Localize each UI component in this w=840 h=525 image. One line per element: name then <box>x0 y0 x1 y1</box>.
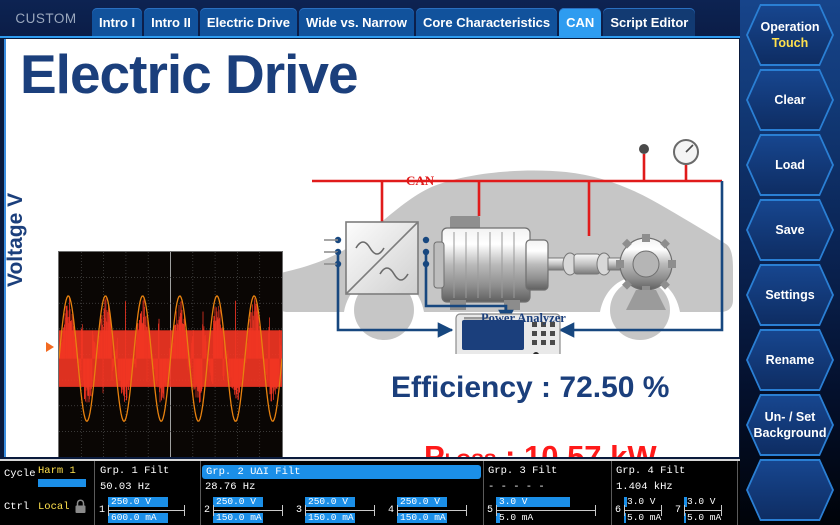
group-frequency: 1.404 kHz <box>616 481 673 493</box>
meter-tick <box>661 505 662 516</box>
scope-y-axis-label: Voltage V <box>4 193 28 287</box>
ctrl-label: Ctrl <box>4 501 29 513</box>
sidebar-button-face: Load <box>748 136 832 194</box>
sidebar-button-label: Save <box>775 222 804 238</box>
tab-list: Intro IIntro IIElectric DriveWide vs. Na… <box>92 8 697 37</box>
sidebar-button-operation[interactable]: OperationTouch <box>746 4 834 66</box>
sensor-icon <box>639 144 649 154</box>
meter-axis <box>684 510 722 511</box>
channel-number: 4 <box>388 505 394 516</box>
current-value: 5.0 mA <box>627 512 661 523</box>
channel-meter[interactable]: 250.0 V150.0 mA <box>213 497 283 525</box>
meter-tick <box>213 505 214 516</box>
channel-number: 1 <box>99 505 105 516</box>
current-value: 600.0 mA <box>111 512 157 523</box>
custom-label: CUSTOM <box>0 11 92 37</box>
power-loss-readout: PLOSS : 10.57 kW <box>424 439 657 457</box>
group-frequency: 28.76 Hz <box>205 481 255 493</box>
sidebar-button-save[interactable]: Save <box>746 199 834 261</box>
channel-meter[interactable]: 3.0 V5.0 mA <box>684 497 722 525</box>
power-analyzer-label: Power Analyzer <box>481 311 566 326</box>
cycle-bar <box>38 479 86 487</box>
current-value: 150.0 mA <box>308 512 354 523</box>
channel-group-1[interactable]: Grp. 1 Filt50.03 Hz1250.0 V600.0 mA <box>95 461 201 525</box>
sidebar-button-face: Un- / Set Background <box>748 396 832 454</box>
voltage-value: 250.0 V <box>308 496 348 507</box>
page-title: Electric Drive <box>20 47 358 102</box>
channel-number: 6 <box>615 505 621 516</box>
channel-number: 2 <box>204 505 210 516</box>
tab-bar-underline <box>0 36 740 38</box>
channel-group-3[interactable]: Grp. 3 Filt- - - - -53.0 V5.0 mA <box>483 461 612 525</box>
meter-axis <box>624 510 662 511</box>
sidebar-button-face: Save <box>748 201 832 259</box>
meter-axis <box>397 510 467 511</box>
current-value: 150.0 mA <box>216 512 262 523</box>
sidebar-button-face: Rename <box>748 331 832 389</box>
sidebar-button-label: Settings <box>765 287 814 303</box>
meter-tick <box>496 505 497 516</box>
efficiency-readout: Efficiency : 72.50 % <box>391 371 669 405</box>
channel-meter[interactable]: 3.0 V5.0 mA <box>624 497 662 525</box>
meter-tick <box>305 505 306 516</box>
group-header: Grp. 4 Filt <box>616 465 685 477</box>
channel-number: 3 <box>296 505 302 516</box>
voltage-value: 3.0 V <box>687 496 716 507</box>
sidebar-button-face: OperationTouch <box>748 6 832 64</box>
sidebar-button-face <box>748 461 832 519</box>
sidebar-button-label: Clear <box>774 92 805 108</box>
meter-axis <box>108 510 185 511</box>
cycle-label: Cycle <box>4 468 36 480</box>
group-header: Grp. 2 UΔI Filt <box>202 465 481 479</box>
meter-tick <box>374 505 375 516</box>
meter-tick <box>282 505 283 516</box>
channel-group-2[interactable]: Grp. 2 UΔI Filt28.76 Hz2250.0 V150.0 mA3… <box>200 461 484 525</box>
channel-meter[interactable]: 250.0 V150.0 mA <box>397 497 467 525</box>
shaft-coupling-icon <box>548 253 622 275</box>
sidebar-button-label: Un- / Set Background <box>754 409 827 442</box>
load-machine-icon <box>616 234 676 310</box>
tab-can[interactable]: CAN <box>559 8 601 37</box>
voltage-value: 3.0 V <box>627 496 656 507</box>
current-value: 5.0 mA <box>499 512 533 523</box>
voltage-value: 250.0 V <box>216 496 256 507</box>
function-sidebar: OperationTouchClearLoadSaveSettingsRenam… <box>740 0 840 525</box>
voltage-value: 250.0 V <box>111 496 151 507</box>
voltage-value: 3.0 V <box>499 496 528 507</box>
sidebar-button-un-set-background[interactable]: Un- / Set Background <box>746 394 834 456</box>
tab-core-characteristics[interactable]: Core Characteristics <box>416 8 557 37</box>
channel-number: 5 <box>487 505 493 516</box>
ploss-prefix: P <box>424 439 445 457</box>
sidebar-button-sublabel: Touch <box>772 35 809 51</box>
channel-meter[interactable]: 3.0 V5.0 mA <box>496 497 596 525</box>
inverter-icon <box>346 222 418 294</box>
sidebar-button-label: Operation <box>760 19 819 35</box>
meter-tick <box>397 505 398 516</box>
ploss-subscript: LOSS <box>445 451 497 457</box>
lock-icon <box>74 499 87 514</box>
meter-tick <box>184 505 185 516</box>
meter-tick <box>108 505 109 516</box>
current-value: 5.0 mA <box>687 512 721 523</box>
group-frequency: 50.03 Hz <box>100 481 150 493</box>
channel-number: 7 <box>675 505 681 516</box>
voltage-value: 250.0 V <box>400 496 440 507</box>
sidebar-button-settings[interactable]: Settings <box>746 264 834 326</box>
tab-script-editor[interactable]: Script Editor <box>603 8 695 37</box>
meter-tick <box>624 505 625 516</box>
sidebar-button-empty-7[interactable] <box>746 459 834 521</box>
current-value: 150.0 mA <box>400 512 446 523</box>
sidebar-button-face: Clear <box>748 71 832 129</box>
waveform-scope[interactable] <box>58 251 283 457</box>
channel-meter[interactable]: 250.0 V150.0 mA <box>305 497 375 525</box>
group-header: Grp. 1 Filt <box>100 465 169 477</box>
content-canvas: Electric Drive <box>4 39 739 457</box>
group-frequency: - - - - - <box>488 481 545 493</box>
meter-tick <box>721 505 722 516</box>
meter-axis <box>305 510 375 511</box>
cycle-value[interactable]: Harm 1 <box>38 465 76 477</box>
sidebar-button-load[interactable]: Load <box>746 134 834 196</box>
meter-tick <box>684 505 685 516</box>
sidebar-button-label: Load <box>775 157 805 173</box>
trigger-marker-icon <box>46 342 54 352</box>
application-window: CUSTOM Intro IIntro IIElectric DriveWide… <box>0 0 840 525</box>
group-header: Grp. 3 Filt <box>488 465 557 477</box>
sidebar-button-face: Settings <box>748 266 832 324</box>
status-bar: Cycle Harm 1 Ctrl Local Grp. 1 Filt50.03… <box>0 459 740 525</box>
meter-axis <box>213 510 283 511</box>
tab-intro-ii[interactable]: Intro II <box>144 8 198 37</box>
can-label: CAN <box>406 173 434 189</box>
tab-bar: CUSTOM Intro IIntro IIElectric DriveWide… <box>0 0 740 37</box>
tab-electric-drive[interactable]: Electric Drive <box>200 8 297 37</box>
meter-axis <box>496 510 596 511</box>
motor-icon <box>434 216 548 310</box>
ctrl-value[interactable]: Local <box>38 501 70 513</box>
ploss-value: : 10.57 kW <box>496 439 656 457</box>
sidebar-button-rename[interactable]: Rename <box>746 329 834 391</box>
tab-intro-i[interactable]: Intro I <box>92 8 142 37</box>
channel-meter[interactable]: 250.0 V600.0 mA <box>108 497 185 525</box>
tab-wide-vs-narrow[interactable]: Wide vs. Narrow <box>299 8 414 37</box>
waveform-plot <box>59 252 282 457</box>
sidebar-button-label: Rename <box>766 352 815 368</box>
channel-group-4[interactable]: Grp. 4 Filt1.404 kHz63.0 V5.0 mA73.0 V5.… <box>611 461 738 525</box>
sidebar-button-clear[interactable]: Clear <box>746 69 834 131</box>
meter-tick <box>466 505 467 516</box>
meter-tick <box>595 505 596 516</box>
